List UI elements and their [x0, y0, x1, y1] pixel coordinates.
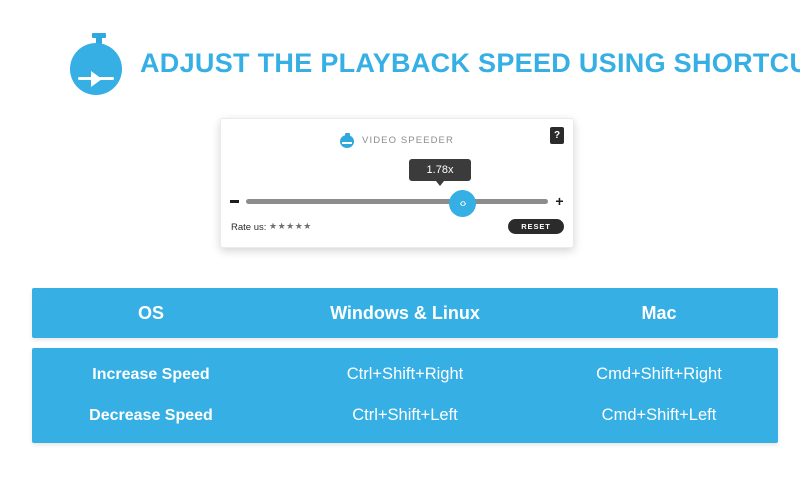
play-triangle-icon [91, 71, 102, 87]
table-body: Increase Speed Ctrl+Shift+Right Cmd+Shif… [32, 348, 778, 443]
table-row: Increase Speed Ctrl+Shift+Right Cmd+Shif… [32, 354, 778, 395]
column-header-windows-linux: Windows & Linux [270, 303, 540, 324]
cell-mac: Cmd+Shift+Left [540, 406, 778, 425]
cell-windows-linux: Ctrl+Shift+Right [270, 365, 540, 384]
table-row: Decrease Speed Ctrl+Shift+Left Cmd+Shift… [32, 395, 778, 436]
speed-slider-thumb[interactable]: ‹› [449, 190, 476, 217]
stopwatch-play-icon [70, 33, 128, 95]
reset-button[interactable]: RESET [508, 219, 564, 234]
video-speeder-logo-icon [340, 133, 355, 148]
increase-speed-icon[interactable]: + [554, 195, 565, 208]
logo-hand [342, 142, 352, 144]
popup-brand-header: VIDEO SPEEDER [221, 133, 573, 148]
brand-name-label: VIDEO SPEEDER [362, 135, 454, 146]
shortcuts-table: OS Windows & Linux Mac Increase Speed Ct… [32, 288, 778, 443]
speed-slider-row[interactable]: ‹› + [221, 193, 573, 211]
table-header-row: OS Windows & Linux Mac [32, 288, 778, 338]
page-header: ADJUST THE PLAYBACK SPEED USING SHORTCUT… [0, 0, 800, 118]
cell-windows-linux: Ctrl+Shift+Left [270, 406, 540, 425]
page-title: ADJUST THE PLAYBACK SPEED USING SHORTCUT… [140, 48, 800, 79]
decrease-speed-icon[interactable] [230, 200, 239, 203]
cell-action: Increase Speed [32, 366, 270, 384]
logo-circle [340, 135, 354, 148]
column-header-mac: Mac [540, 303, 778, 324]
video-speeder-popup-card: VIDEO SPEEDER ? 1.78x ‹› + Rate us: ★★★★… [220, 118, 574, 248]
stopwatch-dial [70, 43, 122, 95]
popup-footer: Rate us: ★★★★★ RESET [221, 219, 573, 239]
cell-action: Decrease Speed [32, 407, 270, 425]
slider-chevrons-icon: ‹› [449, 190, 476, 217]
speed-slider-track[interactable]: ‹› [246, 199, 548, 204]
rating-stars-icon[interactable]: ★★★★★ [269, 221, 312, 232]
speed-value-tooltip: 1.78x [409, 159, 471, 181]
rate-us-label: Rate us: [231, 222, 266, 233]
cell-mac: Cmd+Shift+Right [540, 365, 778, 384]
help-icon[interactable]: ? [550, 127, 564, 144]
column-header-os: OS [32, 303, 270, 324]
